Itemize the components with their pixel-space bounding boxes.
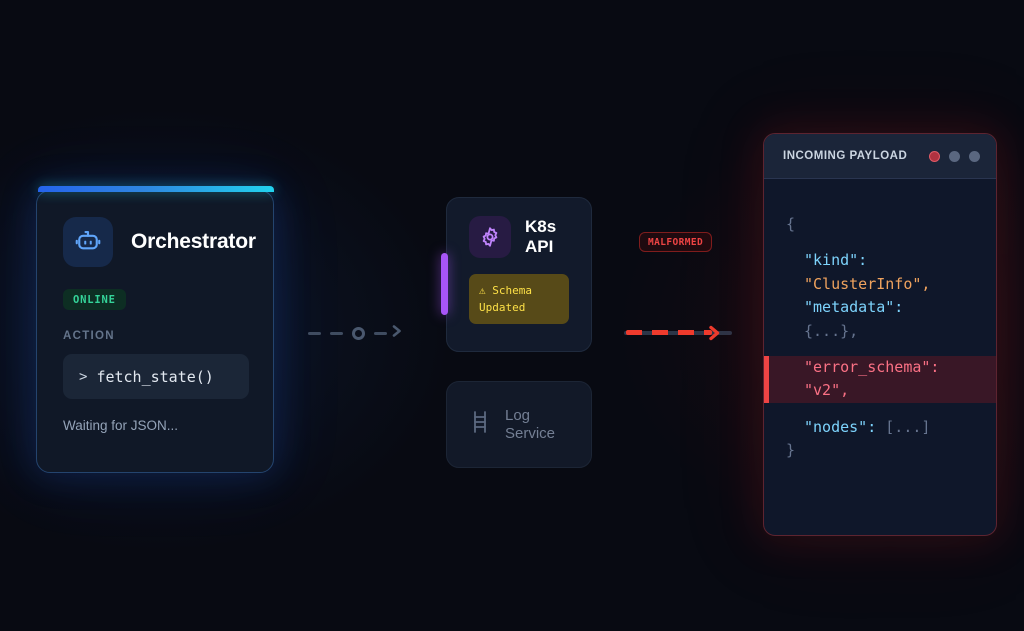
code-line-error: "error_schema":: [764, 356, 996, 379]
k8s-api-card[interactable]: K8s API ⚠ Schema Updated: [446, 197, 592, 352]
payload-panel-title: INCOMING PAYLOAD: [783, 150, 929, 162]
orchestrator-header: Orchestrator: [63, 217, 249, 267]
payload-code-block: { "kind": "ClusterInfo", "metadata": {..…: [764, 179, 996, 463]
code-line: {: [764, 213, 996, 236]
warning-triangle-icon: ⚠: [479, 284, 486, 297]
orchestrator-accent-bar: [38, 186, 274, 192]
log-title-line1: Log: [505, 407, 555, 425]
maximize-dot-icon[interactable]: [969, 151, 980, 162]
dash-segment: [374, 332, 387, 335]
code-line: }: [764, 439, 996, 462]
ladder-icon: [469, 410, 491, 439]
dash-segment: [308, 332, 321, 335]
log-service-title: Log Service: [505, 407, 555, 442]
arrow-right-icon: [390, 324, 406, 343]
code-key-error-schema: "error_schema":: [804, 358, 939, 376]
orchestrator-title: Orchestrator: [131, 230, 256, 254]
warning-text-line1: Schema: [492, 284, 532, 297]
code-key-kind: "kind":: [804, 251, 867, 269]
log-service-card[interactable]: Log Service: [446, 381, 592, 468]
payload-panel-header: INCOMING PAYLOAD: [764, 134, 996, 179]
code-key-nodes: "nodes":: [804, 418, 876, 436]
status-badge: ONLINE: [63, 289, 126, 310]
code-value-clusterinfo: "ClusterInfo",: [804, 275, 930, 293]
code-key-metadata: "metadata":: [804, 298, 903, 316]
log-title-line2: Service: [505, 425, 555, 443]
code-line: {...},: [764, 320, 996, 343]
k8s-header: K8s API: [469, 216, 591, 258]
robot-icon: [63, 217, 113, 267]
code-close-brace: }: [786, 441, 795, 459]
code-line-error: "v2",: [764, 379, 996, 402]
arrow-right-icon: [707, 322, 725, 349]
action-label: ACTION: [63, 330, 249, 342]
diagram-canvas: Orchestrator ONLINE ACTION > fetch_state…: [0, 0, 1024, 631]
close-dot-icon[interactable]: [929, 151, 940, 162]
connector-node-icon: [352, 327, 365, 340]
code-line: "kind":: [764, 249, 996, 272]
dash-segment: [330, 332, 343, 335]
code-line: "nodes": [...]: [764, 416, 996, 439]
k8s-title-line1: K8s: [525, 217, 556, 237]
warning-text-line2: Updated: [479, 299, 560, 316]
fetch-state-command-button[interactable]: > fetch_state(): [63, 354, 249, 399]
code-value-metadata: {...},: [804, 322, 858, 340]
code-line: "ClusterInfo",: [764, 273, 996, 296]
code-value-error-schema: "v2",: [804, 381, 849, 399]
request-connector: [308, 325, 408, 341]
gear-icon: [469, 216, 511, 258]
k8s-title-line2: API: [525, 237, 556, 257]
incoming-payload-panel[interactable]: INCOMING PAYLOAD { "kind": "ClusterInfo"…: [763, 133, 997, 536]
waiting-status-text: Waiting for JSON...: [63, 418, 249, 433]
orchestrator-card[interactable]: Orchestrator ONLINE ACTION > fetch_state…: [36, 190, 274, 473]
command-text: fetch_state(): [96, 368, 213, 386]
connector-dashes: [626, 330, 712, 335]
command-prompt-icon: >: [79, 369, 87, 385]
window-controls[interactable]: [929, 151, 980, 162]
minimize-dot-icon[interactable]: [949, 151, 960, 162]
code-value-nodes: [...]: [885, 418, 930, 436]
code-open-brace: {: [786, 215, 795, 233]
code-line: "metadata":: [764, 296, 996, 319]
malformed-badge: MALFORMED: [639, 232, 712, 252]
schema-warning-badge: ⚠ Schema Updated: [469, 274, 569, 324]
response-connector: [624, 326, 732, 340]
k8s-accent-bar: [441, 253, 448, 315]
k8s-title: K8s API: [525, 217, 556, 256]
